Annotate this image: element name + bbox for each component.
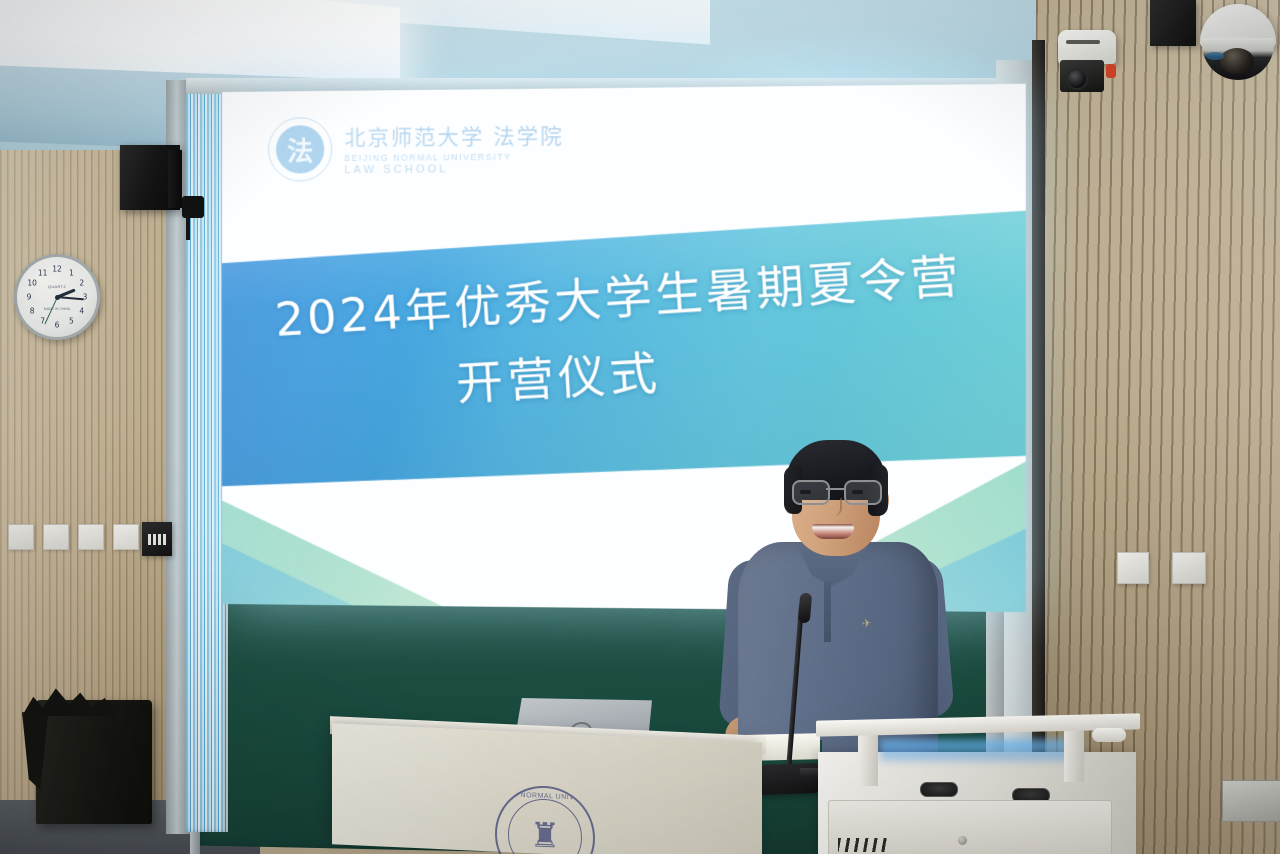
shirt-emblem-icon: ✈ [861, 615, 888, 631]
clock-numeral: 10 [27, 279, 37, 288]
av-cabinet-led-glow [880, 740, 1080, 762]
law-school-logo-text: 北京师范大学 法学院 BEIJING NORMAL UNIVERSITY LAW… [344, 120, 563, 176]
glasses-bridge [826, 488, 844, 490]
law-school-seal-icon: 法 [268, 117, 332, 182]
wall-switch-plate[interactable] [8, 524, 34, 550]
wall-clock: 12 1 2 3 4 5 6 7 8 9 10 11 QUARTZ MADE I… [14, 254, 100, 340]
slide-subtitle: 开营仪式 [454, 336, 663, 414]
clock-brand-text: QUARTZ [48, 284, 66, 289]
trash-bin [36, 700, 152, 824]
logo-chinese-name: 北京师范大学 法学院 [344, 120, 563, 152]
panel-switch[interactable] [148, 534, 151, 545]
left-eye [800, 490, 811, 494]
clock-numeral: 2 [79, 279, 84, 288]
ceiling-microphone-icon [182, 196, 204, 218]
ptz-camera-body [1058, 30, 1116, 64]
clock-center-pin [55, 295, 60, 300]
av-cabinet-lock-icon[interactable] [958, 836, 967, 845]
clock-sub-text: MADE IN CHINA [44, 307, 70, 311]
cabinet-shelf-leg [858, 730, 878, 786]
clock-numeral: 6 [55, 321, 60, 330]
wall-switch-row[interactable] [8, 524, 139, 550]
cabinet-shelf-knob [1092, 728, 1126, 742]
clock-numeral: 8 [30, 306, 35, 315]
dome-camera-lens-icon [1220, 48, 1254, 74]
right-eye [852, 490, 863, 494]
left-lens [792, 480, 830, 505]
ptz-camera-indicator [1106, 64, 1116, 78]
dome-camera [1196, 4, 1280, 84]
seal-glyph: 法 [287, 131, 313, 168]
clock-numeral: 4 [79, 306, 84, 315]
cable-grommet [920, 782, 958, 797]
av-cabinet-vent [838, 838, 890, 852]
ptz-camera-vent [1066, 40, 1100, 44]
wall-speaker-side [168, 150, 182, 208]
wall-switch-plate[interactable] [78, 524, 104, 550]
dome-camera-ring [1206, 52, 1224, 60]
wall-corner-shadow [1032, 40, 1045, 854]
podium-seal-tower-icon: ♜ [530, 818, 560, 853]
clock-numeral: 12 [52, 265, 62, 274]
wall-outlet-plate[interactable] [1117, 552, 1149, 584]
panel-switch[interactable] [163, 534, 166, 545]
mouth [812, 524, 854, 539]
ptz-camera-lens-icon [1066, 68, 1088, 90]
clock-numeral: 1 [69, 269, 74, 278]
clock-face: 12 1 2 3 4 5 6 7 8 9 10 11 QUARTZ MADE I… [17, 257, 97, 337]
wall-switch-plate[interactable] [113, 524, 139, 550]
wall-speaker-right-icon [1150, 0, 1196, 46]
clock-numeral: 5 [69, 317, 74, 326]
cabinet-shelf-leg [1064, 726, 1084, 782]
right-wall-shelf [1222, 780, 1280, 822]
wall-switch-plate[interactable] [43, 524, 69, 550]
panel-switch[interactable] [158, 534, 161, 545]
wall-outlet-plate[interactable] [1172, 552, 1206, 584]
logo-english-school: LAW SCHOOL [344, 163, 563, 177]
logo-english-university: BEIJING NORMAL UNIVERSITY [344, 151, 563, 163]
panel-switch[interactable] [153, 534, 156, 545]
clock-minute-hand [57, 296, 84, 300]
clock-numeral: 11 [38, 269, 48, 278]
podium-university-seal: BEIJING NORMAL UNIVERSITY ♜ [495, 784, 595, 854]
lecture-hall-photo: 法 北京师范大学 法学院 BEIJING NORMAL UNIVERSITY L… [0, 0, 1280, 854]
right-lens [844, 480, 882, 505]
shirt-placket [824, 582, 831, 642]
wall-control-panel[interactable] [142, 522, 172, 556]
ptz-camera [1058, 24, 1118, 90]
nose [828, 498, 842, 516]
clock-numeral: 9 [27, 293, 32, 302]
law-school-logo: 法 北京师范大学 法学院 BEIJING NORMAL UNIVERSITY L… [268, 115, 564, 182]
